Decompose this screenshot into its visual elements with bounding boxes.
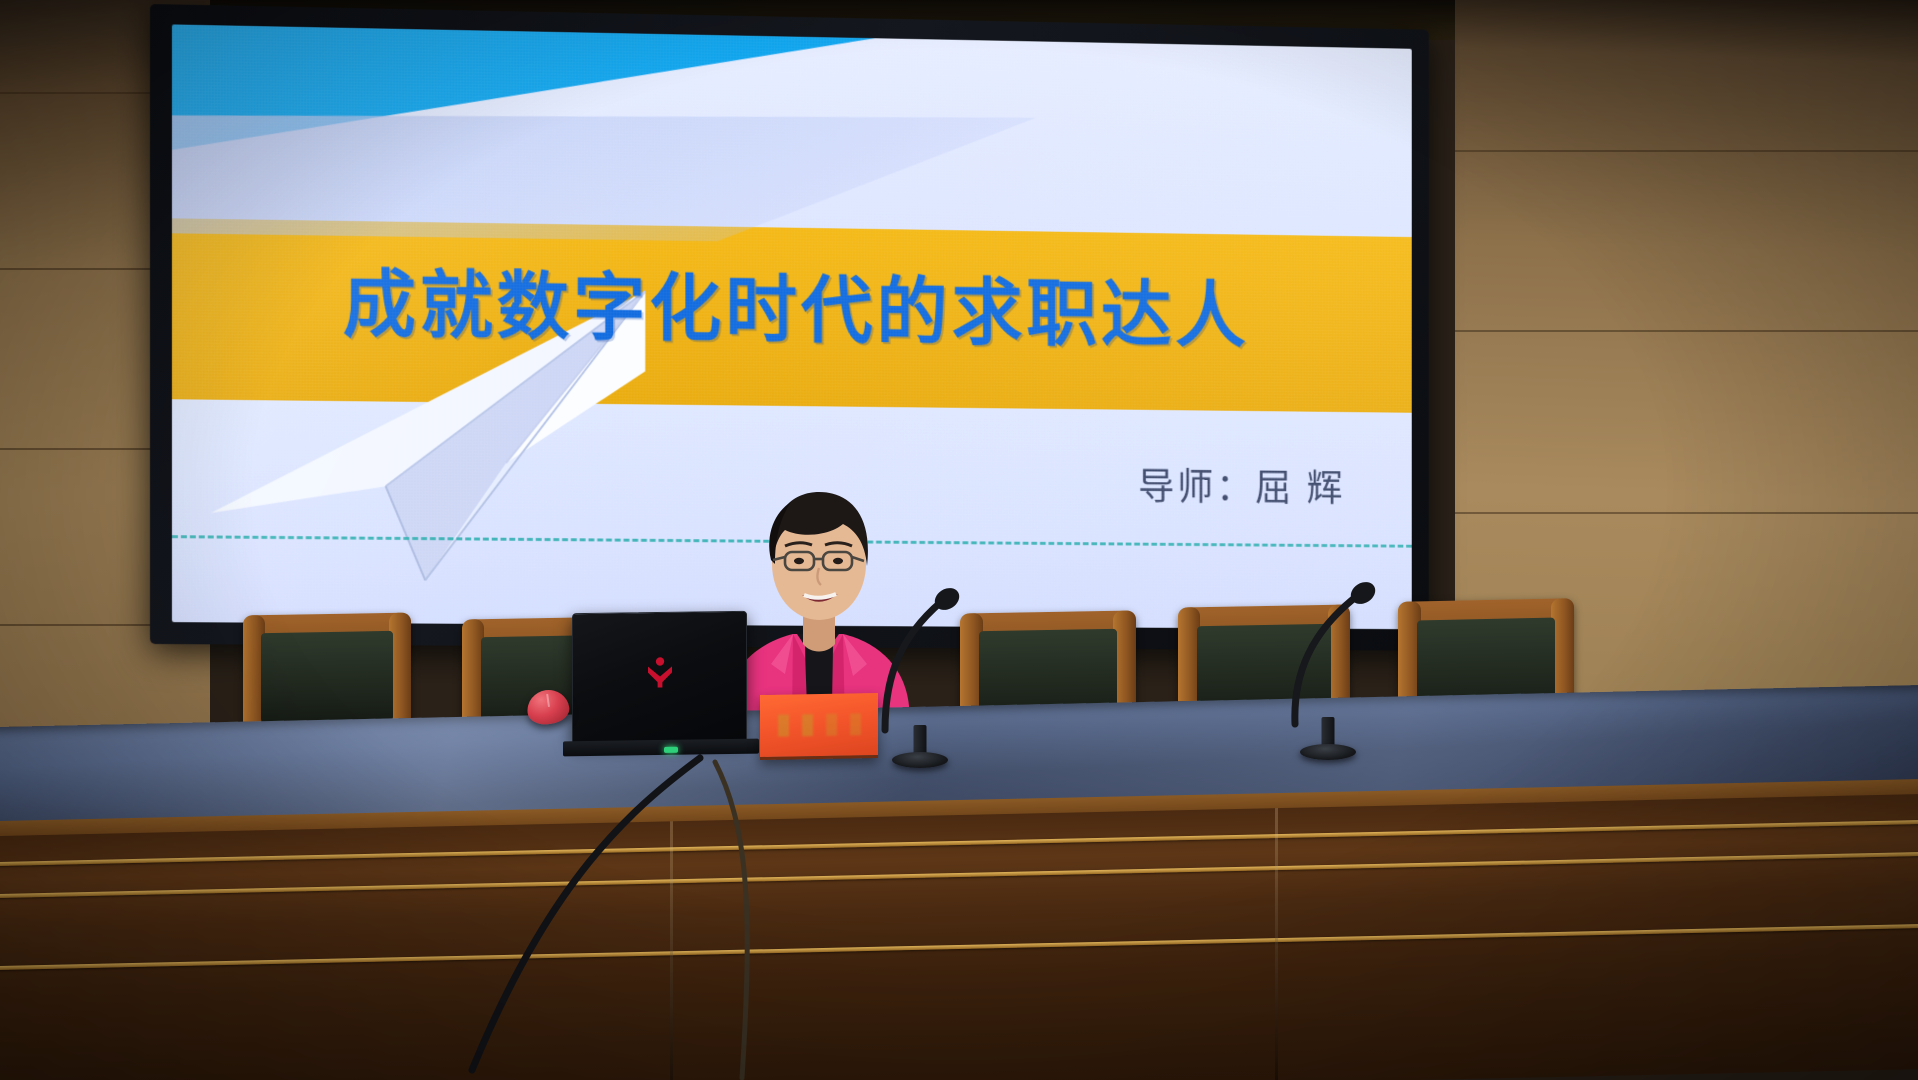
slide-title: 成就数字化时代的求职达人 — [172, 243, 1412, 365]
cables — [380, 740, 1080, 1080]
chair[interactable] — [243, 613, 411, 728]
conference-room-photo: 成就数字化时代的求职达人 导师：屈 辉 — [0, 0, 1918, 1080]
legion-y-logo-icon — [645, 655, 675, 694]
laptop[interactable] — [572, 611, 747, 743]
gooseneck-microphone-left[interactable] — [880, 660, 960, 768]
gooseneck-microphone-right[interactable] — [1288, 648, 1368, 760]
laptop-status-led — [664, 747, 678, 753]
slide-presenter-line: 导师：屈 辉 — [1138, 455, 1345, 511]
